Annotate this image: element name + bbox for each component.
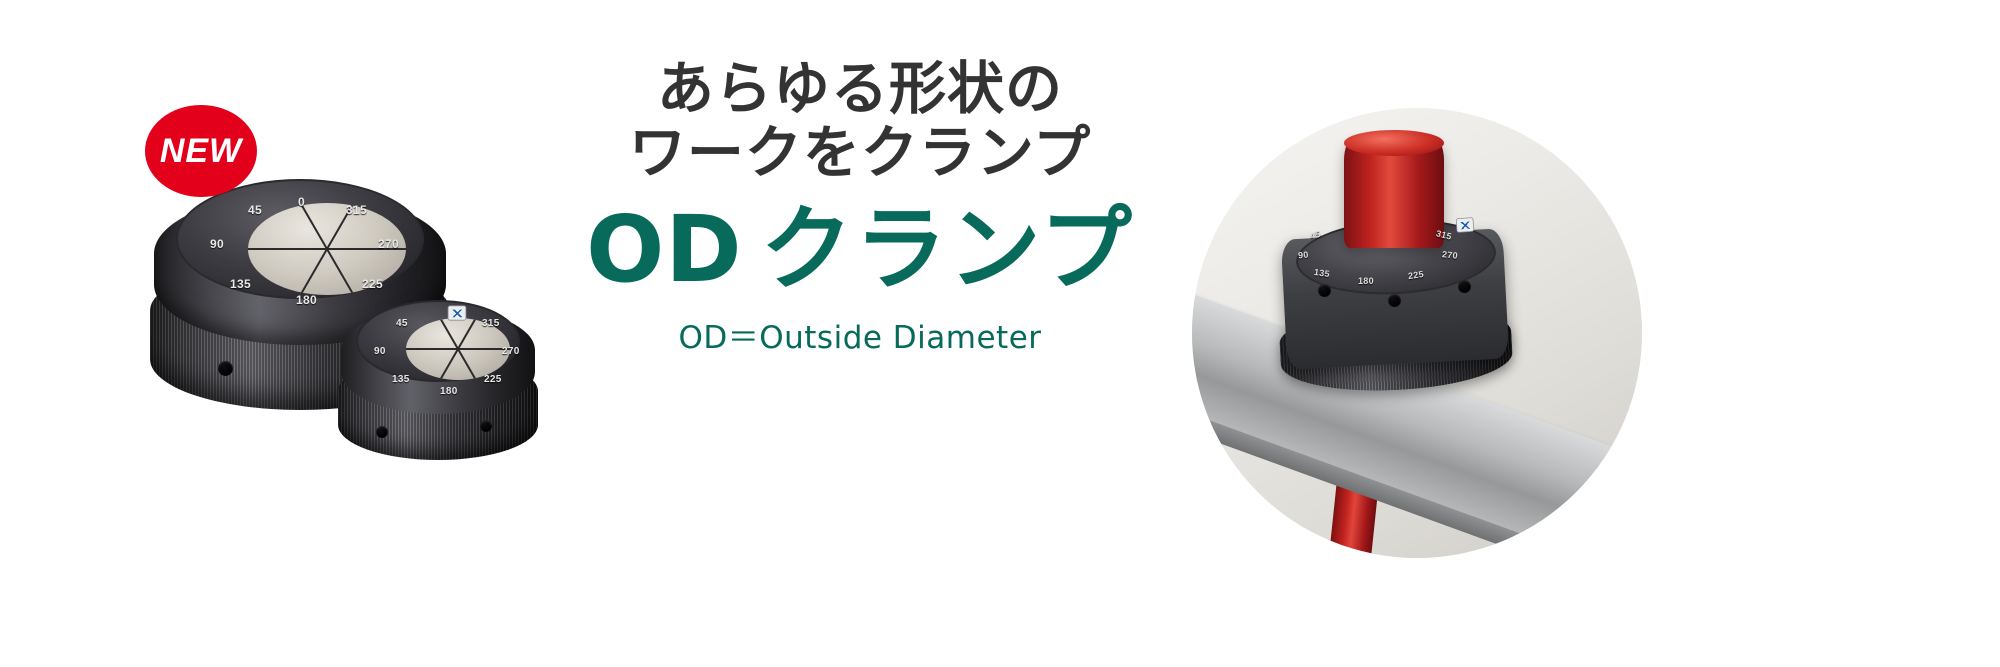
scale-tick-90: 90: [1298, 249, 1310, 260]
scale-tick-180: 180: [296, 293, 317, 307]
scale-tick-180: 180: [440, 386, 458, 397]
headline-line-1: あらゆる形状の: [560, 58, 1160, 122]
scale-tick-135: 135: [1313, 267, 1330, 279]
scale-tick-0: 0: [298, 195, 305, 209]
clamp-small-dial: 45 315 90 270 135 225 180: [356, 300, 520, 382]
scale-tick-90: 90: [210, 237, 224, 251]
scale-tick-225: 225: [484, 374, 502, 385]
bolt-hole-icon: [1318, 284, 1331, 297]
right-product-photo: 45 90 135 180 225 270 315: [1192, 108, 1642, 558]
red-workpiece-cap-top: [1344, 130, 1444, 156]
bolt-hole-icon: [1458, 280, 1471, 293]
bolt-hole-icon: [218, 361, 233, 376]
subtitle: OD＝Outside Diameter: [560, 312, 1160, 357]
new-badge-label: NEW: [160, 132, 242, 171]
bolt-hole-icon: [480, 420, 492, 432]
title-od: OD: [586, 196, 743, 303]
scale-tick-315: 315: [346, 203, 367, 217]
scale-tick-45: 45: [396, 318, 408, 329]
scale-tick-225: 225: [362, 277, 383, 291]
headline-block: あらゆる形状の ワークをクランプ ODクランプ OD＝Outside Diame…: [560, 58, 1160, 357]
scale-tick-135: 135: [230, 277, 251, 291]
scale-tick-180: 180: [1358, 276, 1374, 286]
promo-banner: 0 45 315 90 270 135 225 180: [0, 0, 2000, 667]
headline-line-2: ワークをクランプ: [560, 122, 1160, 186]
scale-tick-270: 270: [378, 237, 399, 251]
clamp-large-dial: 0 45 315 90 270 135 225 180: [176, 179, 424, 299]
new-badge: NEW: [145, 105, 257, 197]
brand-logo-icon: [448, 305, 467, 320]
scale-tick-135: 135: [392, 374, 410, 385]
bolt-hole-icon: [1388, 294, 1401, 307]
brand-logo-icon: [1456, 217, 1475, 233]
scale-tick-45: 45: [248, 203, 262, 217]
scale-tick-90: 90: [374, 346, 386, 357]
page-title: ODクランプ: [560, 202, 1160, 299]
title-katakana: クランプ: [761, 196, 1134, 303]
bolt-hole-icon: [376, 426, 388, 438]
clamp-small: 45 315 90 270 135 225 180: [338, 290, 538, 480]
scale-tick-315: 315: [482, 318, 500, 329]
scale-tick-270: 270: [502, 346, 520, 357]
scale-tick-270: 270: [1442, 249, 1459, 261]
